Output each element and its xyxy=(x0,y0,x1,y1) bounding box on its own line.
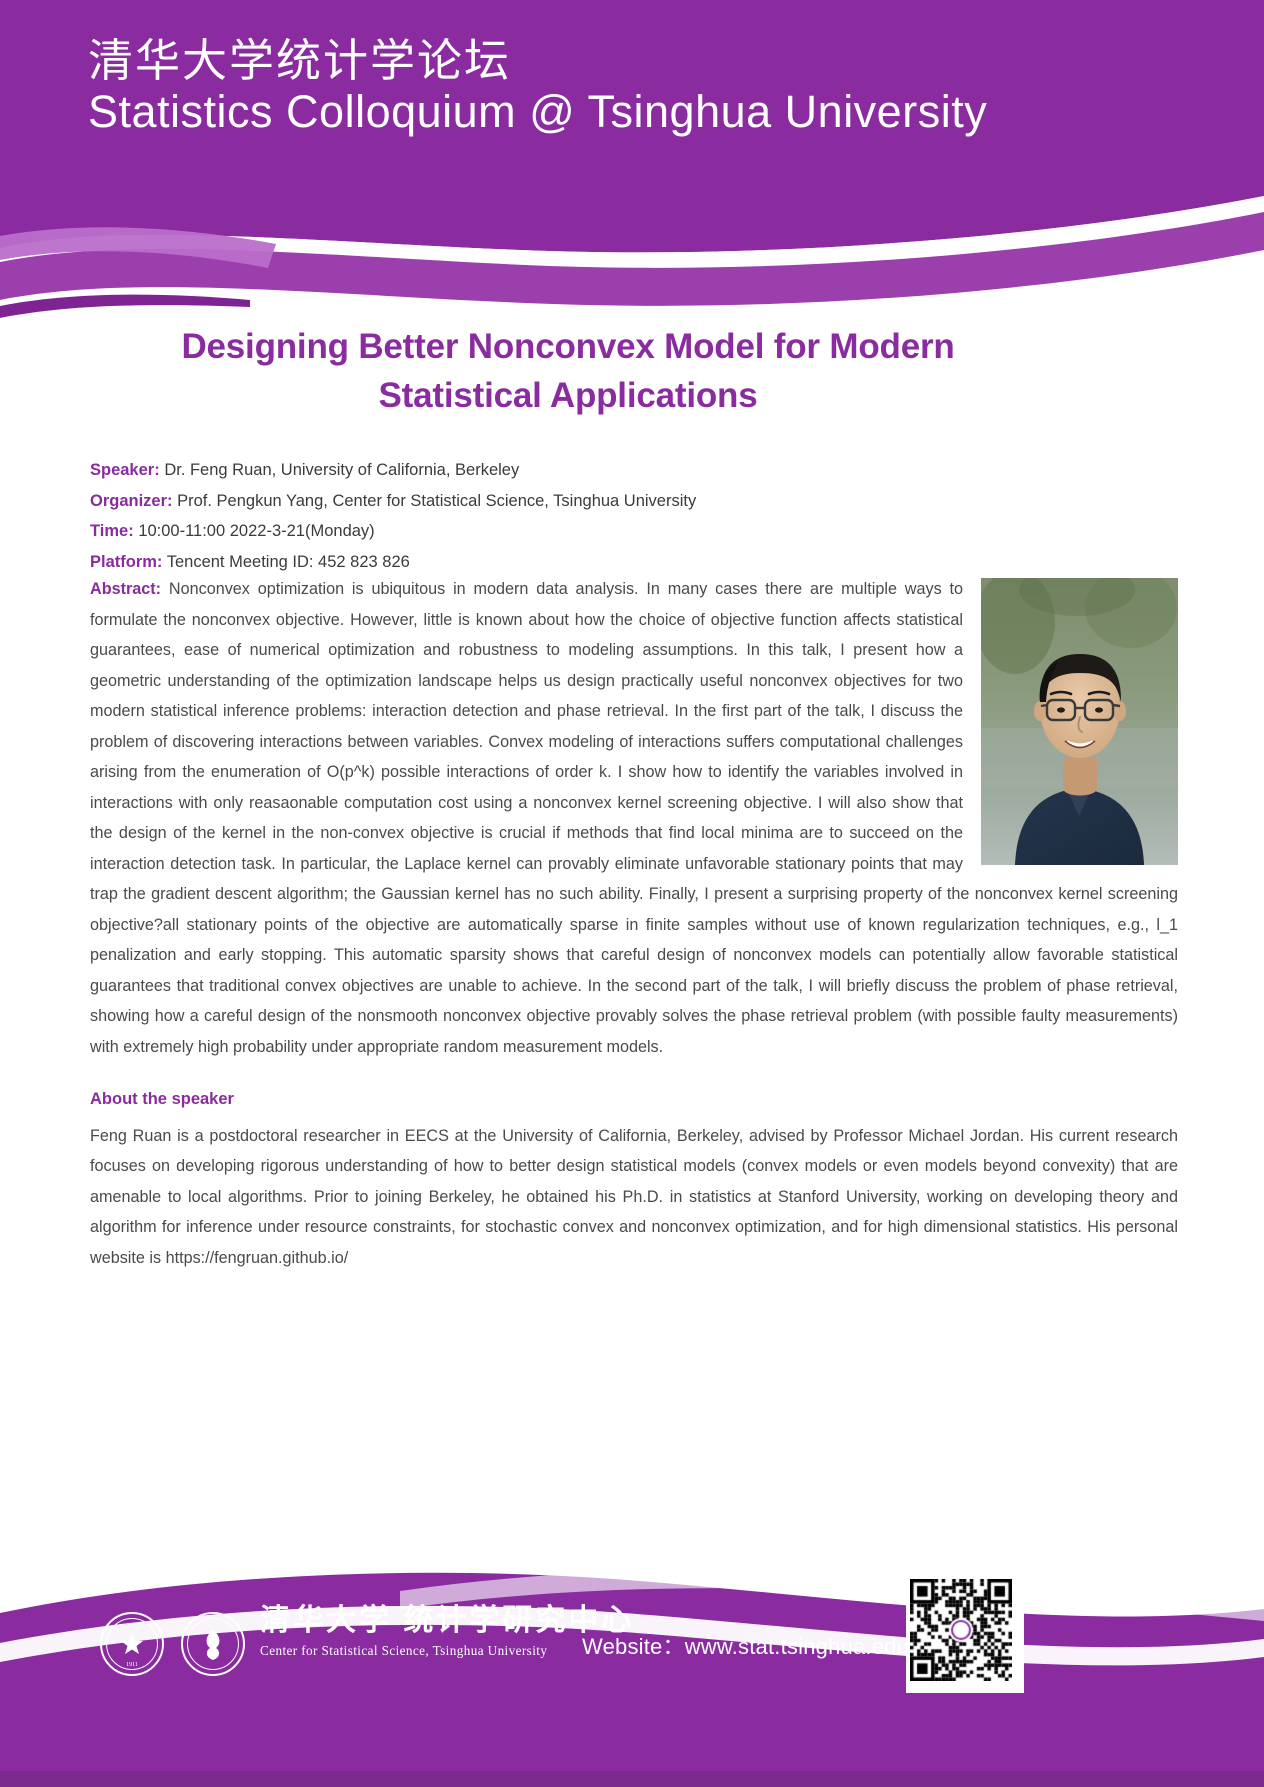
platform-value: Tencent Meeting ID: 452 823 826 xyxy=(167,553,410,571)
header-title-cn: 清华大学统计学论坛 xyxy=(88,38,987,83)
meta-row-organizer: Organizer: Prof. Pengkun Yang, Center fo… xyxy=(90,486,1175,517)
footer-content: 1911 清华大学 统计学研究中心 Center for Statistical… xyxy=(0,1557,1264,1787)
meta-row-platform: Platform: Tencent Meeting ID: 452 823 82… xyxy=(90,547,1175,578)
meta-row-time: Time: 10:00-11:00 2022-3-21(Monday) xyxy=(90,516,1175,547)
time-value: 10:00-11:00 2022-3-21(Monday) xyxy=(138,522,374,540)
svg-text:1911: 1911 xyxy=(126,1662,138,1668)
organization-name: 清华大学 统计学研究中心 Center for Statistical Scie… xyxy=(260,1604,634,1659)
footer-banner: 1911 清华大学 统计学研究中心 Center for Statistical… xyxy=(0,1557,1264,1787)
website-label: Website： xyxy=(582,1634,685,1659)
website-line[interactable]: Website：www.stat.tsinghua.edu.cn xyxy=(582,1629,939,1661)
abstract-section: Abstract: Nonconvex optimization is ubiq… xyxy=(90,574,1178,1273)
header-title-en: Statistics Colloquium @ Tsinghua Univers… xyxy=(88,89,987,134)
qr-code-image xyxy=(910,1579,1012,1681)
organizer-label: Organizer: xyxy=(90,492,173,510)
platform-label: Platform: xyxy=(90,553,162,571)
speaker-portrait-image xyxy=(981,578,1178,865)
tsinghua-seal-icon: 1911 xyxy=(100,1612,164,1676)
speaker-value: Dr. Feng Ruan, University of California,… xyxy=(164,461,519,479)
about-speaker-text: Feng Ruan is a postdoctoral researcher i… xyxy=(90,1121,1178,1274)
speaker-label: Speaker: xyxy=(90,461,160,479)
talk-metadata: Speaker: Dr. Feng Ruan, University of Ca… xyxy=(90,455,1175,577)
qr-code[interactable] xyxy=(906,1575,1024,1693)
organizer-value: Prof. Pengkun Yang, Center for Statistic… xyxy=(177,492,696,510)
talk-title: Designing Better Nonconvex Model for Mod… xyxy=(118,322,1018,420)
header-banner: 清华大学统计学论坛 Statistics Colloquium @ Tsingh… xyxy=(0,0,1264,330)
organization-name-en: Center for Statistical Science, Tsinghua… xyxy=(260,1643,542,1659)
time-label: Time: xyxy=(90,522,134,540)
website-url[interactable]: www.stat.tsinghua.edu.cn xyxy=(685,1634,939,1659)
abstract-label: Abstract: xyxy=(90,580,161,598)
about-speaker-heading: About the speaker xyxy=(90,1084,1178,1115)
statistics-center-seal-icon xyxy=(181,1612,245,1676)
organization-name-cn: 清华大学 统计学研究中心 xyxy=(260,1604,634,1639)
meta-row-speaker: Speaker: Dr. Feng Ruan, University of Ca… xyxy=(90,455,1175,486)
header-titles: 清华大学统计学论坛 Statistics Colloquium @ Tsingh… xyxy=(88,38,987,134)
colloquium-poster: 清华大学统计学论坛 Statistics Colloquium @ Tsingh… xyxy=(0,0,1264,1787)
speaker-photo xyxy=(981,578,1178,865)
